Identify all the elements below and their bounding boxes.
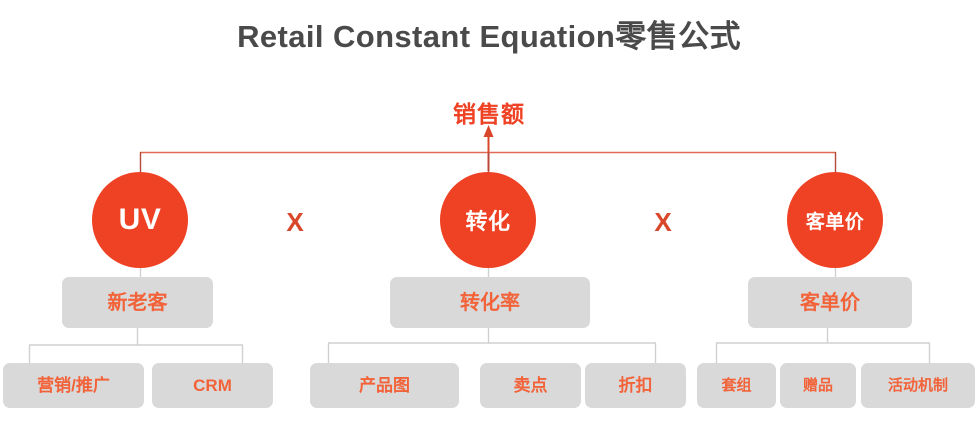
diagram-canvas: Retail Constant Equation零售公式 销售额 bbox=[0, 0, 978, 425]
lever-box-marketing-promotion[interactable]: 营销/推广 bbox=[3, 363, 144, 408]
driver-box-aov[interactable]: 客单价 bbox=[748, 277, 912, 328]
operator-multiply-1: X bbox=[280, 207, 310, 238]
lever-box-discount[interactable]: 折扣 bbox=[585, 363, 686, 408]
operator-multiply-2: X bbox=[648, 207, 678, 238]
metric-circle-conversion[interactable]: 转化 bbox=[440, 172, 536, 268]
driver-box-conversion-rate[interactable]: 转化率 bbox=[390, 277, 590, 328]
lever-box-product-image[interactable]: 产品图 bbox=[310, 363, 459, 408]
metric-circle-aov[interactable]: 客单价 bbox=[787, 172, 883, 268]
lever-box-bundle[interactable]: 套组 bbox=[697, 363, 776, 408]
root-arrow-icon bbox=[484, 125, 494, 171]
lever-box-crm[interactable]: CRM bbox=[152, 363, 273, 408]
page-title: Retail Constant Equation零售公式 bbox=[0, 11, 978, 56]
lever-box-campaign-mechanism[interactable]: 活动机制 bbox=[861, 363, 975, 408]
lever-box-selling-point[interactable]: 卖点 bbox=[480, 363, 581, 408]
metric-circle-uv[interactable]: UV bbox=[92, 172, 188, 268]
lever-box-free-gift[interactable]: 赠品 bbox=[780, 363, 856, 408]
root-node-label: 销售额 bbox=[0, 95, 978, 129]
driver-box-new-old-customers[interactable]: 新老客 bbox=[62, 277, 213, 328]
